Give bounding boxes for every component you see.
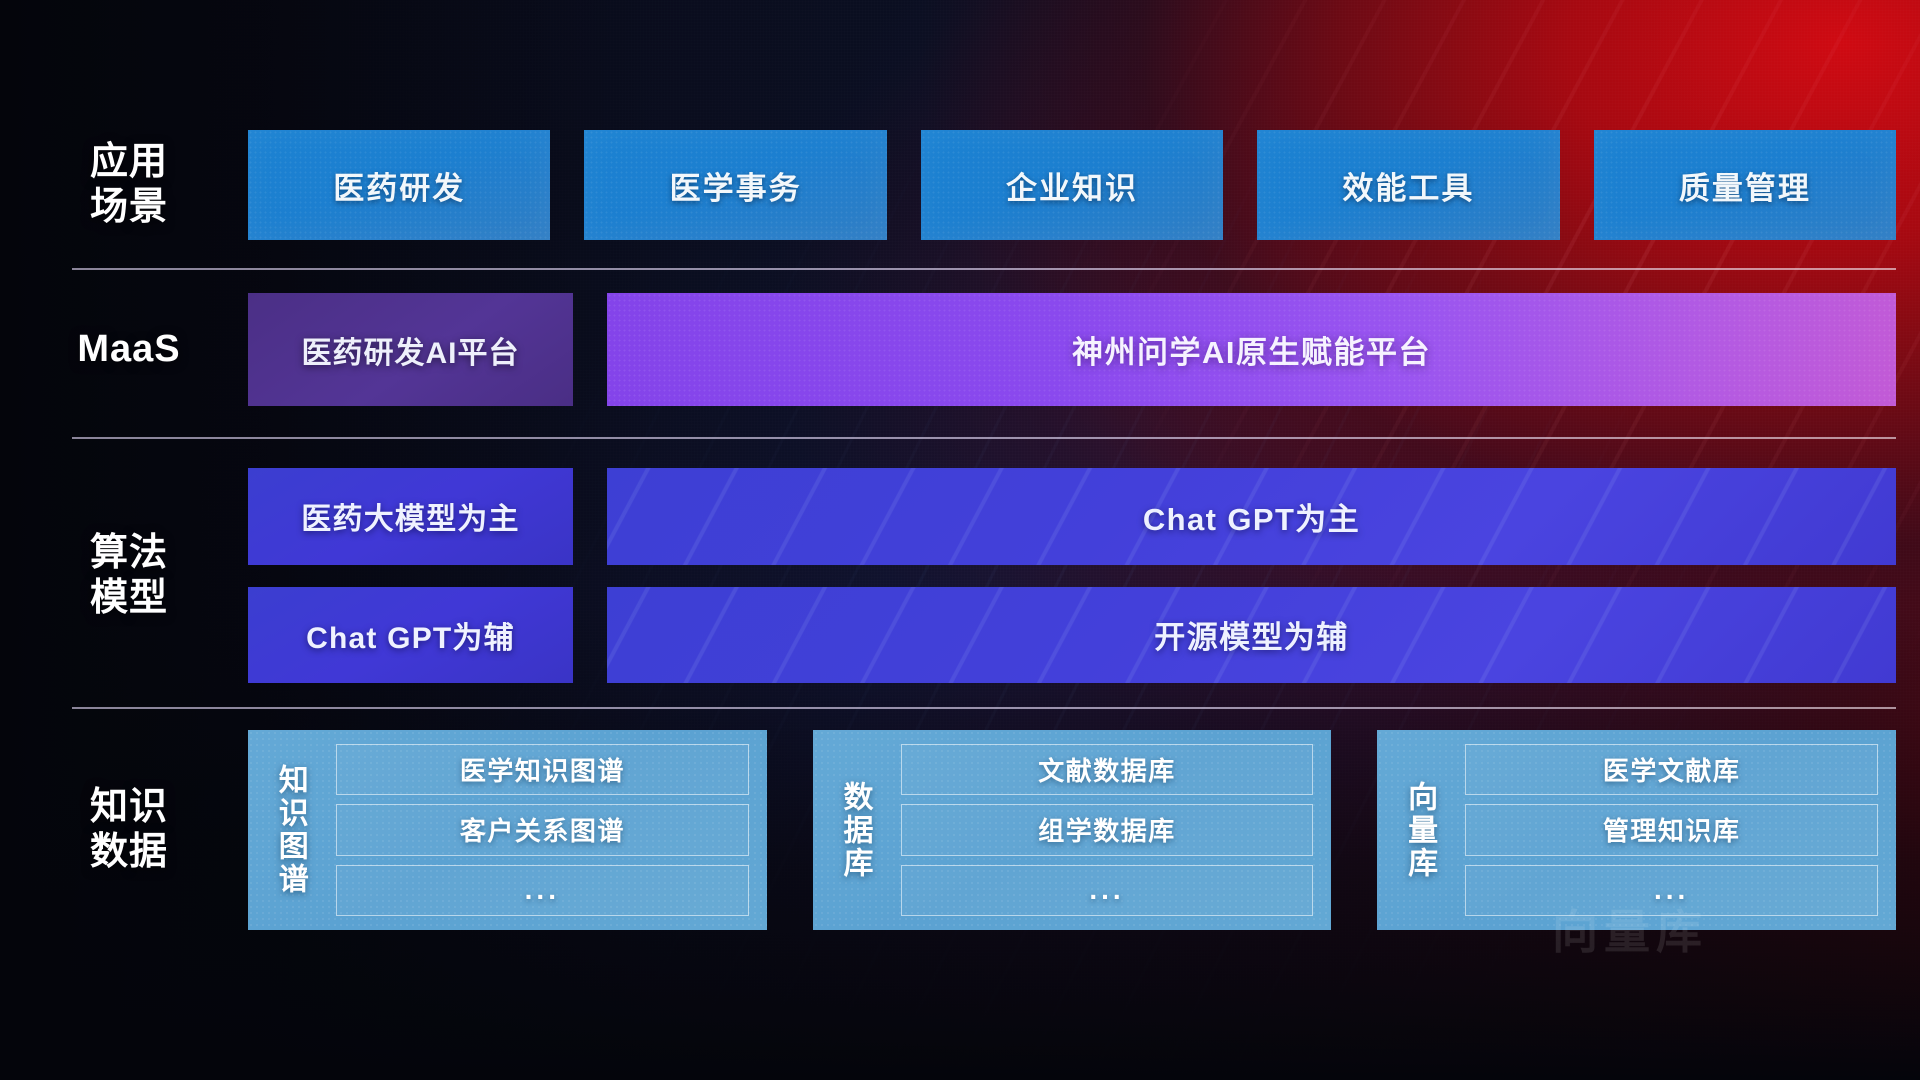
knowledge-item-more[interactable]: ...	[336, 865, 749, 916]
algo-card-label: Chat GPT为主	[1143, 494, 1360, 539]
knowledge-item-more[interactable]: ...	[1465, 865, 1878, 916]
knowledge-group-knowledge-graph[interactable]: 知识图谱 医学知识图谱 客户关系图谱 ...	[248, 730, 767, 930]
maas-card-drug-rnd-ai-platform[interactable]: 医药研发AI平台	[248, 293, 573, 406]
knowledge-item-label: ...	[1654, 874, 1689, 906]
knowledge-item-medical-literature-store[interactable]: 医学文献库	[1465, 744, 1878, 795]
app-card-efficiency-tools[interactable]: 效能工具	[1257, 130, 1559, 240]
algo-card-opensource-secondary[interactable]: 开源模型为辅	[607, 587, 1896, 684]
algo-card-label: 医药大模型为主	[301, 494, 519, 538]
knowledge-group-title: 数据库	[823, 740, 887, 920]
app-card-label: 医学事务	[670, 163, 802, 208]
app-card-medical-affairs[interactable]: 医学事务	[584, 130, 886, 240]
algo-card-chatgpt-secondary[interactable]: Chat GPT为辅	[248, 587, 573, 684]
knowledge-group-title: 知识图谱	[258, 740, 322, 920]
knowledge-item-list: 文献数据库 组学数据库 ...	[887, 740, 1320, 920]
algorithm-row-primary: 医药大模型为主 Chat GPT为主	[248, 468, 1896, 565]
row-label-application-scenarios: 应用场景	[34, 140, 224, 230]
app-card-quality-management[interactable]: 质量管理	[1594, 130, 1896, 240]
knowledge-group-vector-store[interactable]: 向量库 医学文献库 管理知识库 ...	[1377, 730, 1896, 930]
divider-apps-maas	[72, 268, 1896, 270]
algo-card-chatgpt-primary[interactable]: Chat GPT为主	[607, 468, 1896, 565]
knowledge-item-omics-db[interactable]: 组学数据库	[901, 804, 1314, 855]
knowledge-item-more[interactable]: ...	[901, 865, 1314, 916]
divider-maas-algo	[72, 437, 1896, 439]
knowledge-item-label: 管理知识库	[1603, 811, 1741, 848]
maas-card-label: 神州问学AI原生赋能平台	[1072, 327, 1431, 372]
algo-card-label: 开源模型为辅	[1154, 612, 1348, 657]
app-card-label: 质量管理	[1679, 163, 1811, 208]
divider-algo-knowledge	[72, 707, 1896, 709]
app-card-drug-rnd[interactable]: 医药研发	[248, 130, 550, 240]
knowledge-item-label: ...	[525, 874, 560, 906]
maas-card-label: 医药研发AI平台	[302, 328, 520, 372]
knowledge-item-label: 文献数据库	[1038, 751, 1176, 788]
algo-card-label: Chat GPT为辅	[306, 613, 515, 657]
application-card-list: 医药研发 医学事务 企业知识 效能工具 质量管理	[248, 130, 1896, 240]
row-maas: MaaS 医药研发AI平台 神州问学AI原生赋能平台	[0, 293, 1920, 406]
app-card-label: 效能工具	[1342, 163, 1474, 208]
algorithm-card-list: 医药大模型为主 Chat GPT为主 Chat GPT为辅 开源模型为辅	[248, 468, 1896, 683]
app-card-label: 企业知识	[1006, 163, 1138, 208]
row-knowledge-data: 知识数据 知识图谱 医学知识图谱 客户关系图谱 ... 数据库	[0, 730, 1920, 930]
knowledge-item-literature-db[interactable]: 文献数据库	[901, 744, 1314, 795]
knowledge-item-label: ...	[1089, 874, 1124, 906]
row-application-scenarios: 应用场景 医药研发 医学事务 企业知识 效能工具 质量管理	[0, 130, 1920, 240]
knowledge-item-management-knowledge-store[interactable]: 管理知识库	[1465, 804, 1878, 855]
knowledge-group-list: 知识图谱 医学知识图谱 客户关系图谱 ... 数据库	[248, 730, 1896, 930]
maas-card-list: 医药研发AI平台 神州问学AI原生赋能平台	[248, 293, 1896, 406]
knowledge-group-database[interactable]: 数据库 文献数据库 组学数据库 ...	[813, 730, 1332, 930]
app-card-label: 医药研发	[333, 163, 465, 208]
knowledge-item-list: 医学知识图谱 客户关系图谱 ...	[322, 740, 755, 920]
knowledge-item-medical-kg[interactable]: 医学知识图谱	[336, 744, 749, 795]
algo-card-pharma-llm-primary[interactable]: 医药大模型为主	[248, 468, 573, 565]
algorithm-row-secondary: Chat GPT为辅 开源模型为辅	[248, 587, 1896, 684]
knowledge-item-customer-relation-kg[interactable]: 客户关系图谱	[336, 804, 749, 855]
knowledge-item-label: 医学知识图谱	[460, 751, 625, 788]
knowledge-item-label: 医学文献库	[1603, 751, 1741, 788]
row-label-maas: MaaS	[34, 327, 224, 372]
knowledge-group-title: 向量库	[1387, 740, 1451, 920]
knowledge-item-label: 客户关系图谱	[460, 811, 625, 848]
maas-card-shenzhou-wenxue-platform[interactable]: 神州问学AI原生赋能平台	[607, 293, 1896, 406]
knowledge-item-list: 医学文献库 管理知识库 ...	[1451, 740, 1884, 920]
app-card-enterprise-knowledge[interactable]: 企业知识	[921, 130, 1223, 240]
row-algorithm-models: 算法模型 医药大模型为主 Chat GPT为主 Chat GPT为辅 开源模型为…	[0, 468, 1920, 683]
row-label-knowledge-data: 知识数据	[34, 785, 224, 875]
knowledge-item-label: 组学数据库	[1038, 811, 1176, 848]
architecture-diagram: 应用场景 医药研发 医学事务 企业知识 效能工具 质量管理 MaaS 医药研发A…	[0, 0, 1920, 1080]
row-label-algorithm-models: 算法模型	[34, 531, 224, 621]
